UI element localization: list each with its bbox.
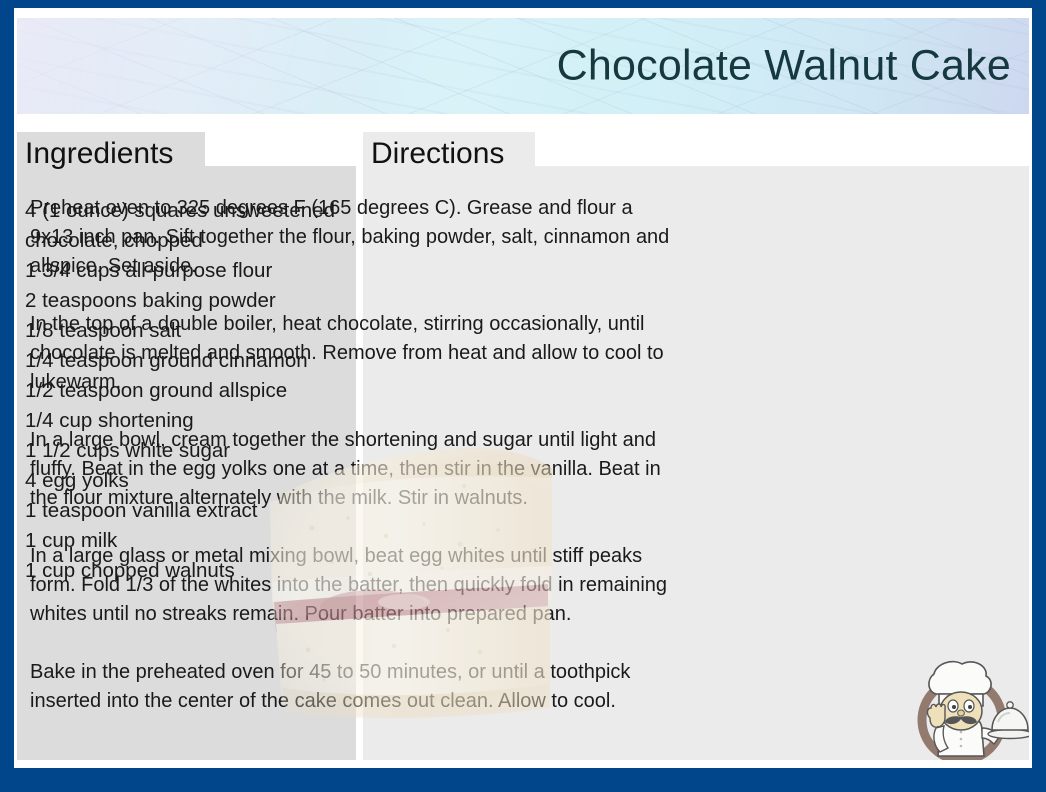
- direction-paragraph: In a large glass or metal mixing bowl, b…: [30, 542, 680, 629]
- directions-tab: Directions: [363, 132, 535, 176]
- ingredients-tab-label: Ingredients: [25, 139, 173, 169]
- header-banner: Chocolate Walnut Cake: [17, 18, 1029, 114]
- recipe-card: Chocolate Walnut Cake Ingredients 4 (1 o…: [0, 0, 1046, 792]
- recipe-title: Chocolate Walnut Cake: [557, 45, 1011, 88]
- bottom-gutter: [14, 760, 1032, 768]
- directions-tab-label: Directions: [371, 139, 504, 169]
- direction-paragraph: Bake in the preheated oven for 45 to 50 …: [30, 658, 680, 716]
- directions-text: Preheat oven to 325 degrees F (165 degre…: [30, 194, 680, 716]
- ingredients-tab: Ingredients: [17, 132, 205, 176]
- direction-paragraph: In the top of a double boiler, heat choc…: [30, 310, 680, 397]
- direction-paragraph: In a large bowl, cream together the shor…: [30, 426, 680, 513]
- recipe-page: Chocolate Walnut Cake Ingredients 4 (1 o…: [14, 8, 1032, 768]
- right-gutter: [1029, 8, 1032, 768]
- direction-paragraph: Preheat oven to 325 degrees F (165 degre…: [30, 194, 680, 281]
